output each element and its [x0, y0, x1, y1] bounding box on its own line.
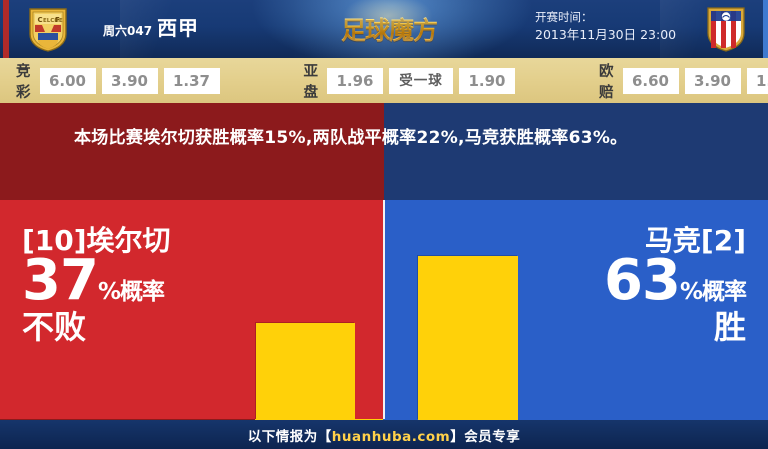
odds-label-jingcai: 竞彩: [16, 60, 32, 102]
odds-bar: 竞彩 6.00 3.90 1.37 亚盘 1.96 受一球 1.90 欧赔 6.…: [0, 58, 768, 103]
away-probability-row: 63 %概率: [506, 253, 746, 309]
match-prediction-infographic: C F ELCHE 周六047 西甲 足球魔方 开赛时间： 2013年11月30…: [0, 0, 768, 449]
home-team-stats: [10]埃尔切 37 %概率 不败: [22, 226, 247, 345]
odds-cell-yapan-home[interactable]: 1.96: [327, 68, 383, 94]
summary-banner: 本场比赛埃尔切获胜概率15%,两队战平概率22%,马竞获胜概率63%。: [0, 103, 768, 200]
svg-text:C: C: [38, 16, 43, 24]
kickoff-time: 2013年11月30日 23:00: [535, 26, 676, 44]
odds-cell-jingcai-draw[interactable]: 3.90: [102, 68, 158, 94]
atletico-madrid-badge-icon: [706, 6, 746, 52]
home-probability-value: 37: [22, 253, 98, 309]
odds-group-yapan: 亚盘 1.96 受一球 1.90: [304, 60, 516, 102]
odds-cell-jingcai-home[interactable]: 6.00: [40, 68, 96, 94]
site-logo-text: 足球魔方: [341, 11, 437, 47]
footer-notice-prefix: 以下情报为【: [248, 429, 332, 445]
probability-chart: [10]埃尔切 37 %概率 不败 马竞[2] 63 %概率 胜: [0, 200, 768, 420]
bar-away-probability: [418, 256, 518, 420]
odds-cell-jingcai-away[interactable]: 1.37: [164, 68, 220, 94]
away-verdict: 胜: [506, 311, 746, 345]
round-number: 周六047: [103, 22, 152, 39]
panel-divider: [383, 200, 385, 420]
home-probability-unit: %概率: [98, 281, 164, 309]
footer-site-link[interactable]: huanhuba.com: [332, 429, 450, 445]
odds-group-jingcai: 竞彩 6.00 3.90 1.37: [16, 60, 220, 102]
league-info: 周六047 西甲: [103, 12, 199, 41]
odds-cell-yapan-handicap[interactable]: 受一球: [389, 68, 453, 94]
kickoff-info: 开赛时间： 2013年11月30日 23:00: [535, 9, 676, 44]
away-probability-unit: %概率: [680, 281, 746, 309]
footer-notice-suffix: 】会员专享: [450, 429, 520, 445]
away-probability-value: 63: [604, 253, 680, 309]
odds-label-oupei: 欧赔: [599, 60, 615, 102]
home-verdict: 不败: [22, 311, 247, 345]
header-right-blue-stripe: [763, 0, 768, 58]
bar-home-probability: [256, 323, 355, 420]
odds-label-yapan: 亚盘: [304, 60, 320, 102]
site-logo[interactable]: 足球魔方: [330, 5, 448, 53]
away-team-stats: 马竞[2] 63 %概率 胜: [506, 226, 746, 345]
odds-cell-oupei-away[interactable]: 1.51: [747, 68, 768, 94]
header-bar: C F ELCHE 周六047 西甲 足球魔方 开赛时间： 2013年11月30…: [0, 0, 768, 58]
elche-cf-badge-icon: C F ELCHE: [27, 6, 69, 52]
odds-cell-yapan-away[interactable]: 1.90: [459, 68, 515, 94]
footer-bar: 以下情报为【huanhuba.com】会员专享: [0, 420, 768, 449]
header-left-red-stripe: [3, 0, 9, 58]
odds-cell-oupei-draw[interactable]: 3.90: [685, 68, 741, 94]
svg-text:ELCHE: ELCHE: [43, 18, 63, 24]
kickoff-label: 开赛时间：: [535, 9, 676, 26]
home-probability-row: 37 %概率: [22, 253, 247, 309]
odds-group-oupei: 欧赔 6.60 3.90 1.51: [599, 60, 768, 102]
odds-cell-oupei-home[interactable]: 6.60: [623, 68, 679, 94]
summary-text: 本场比赛埃尔切获胜概率15%,两队战平概率22%,马竞获胜概率63%。: [74, 125, 714, 152]
league-name: 西甲: [157, 12, 199, 41]
footer-notice: 以下情报为【huanhuba.com】会员专享: [248, 425, 520, 445]
